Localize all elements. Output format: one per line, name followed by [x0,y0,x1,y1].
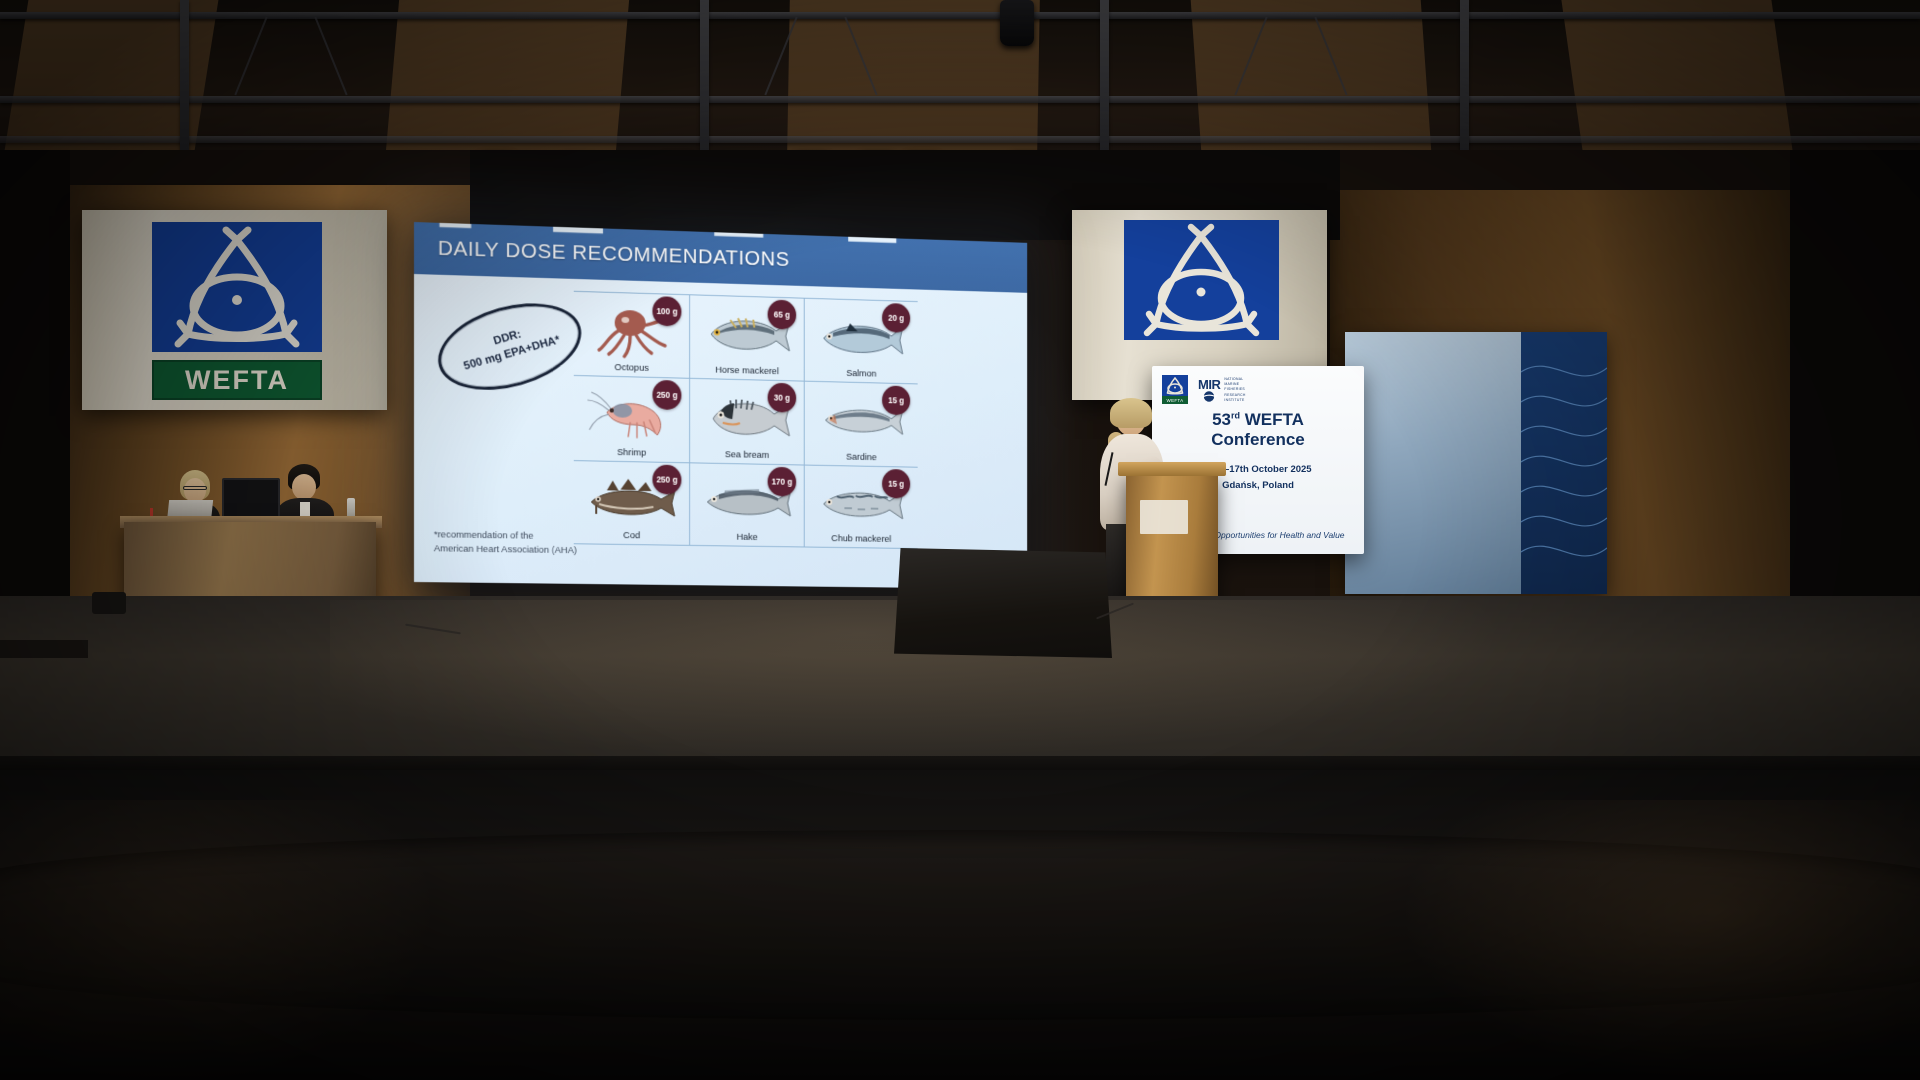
dose-cell-horse-mackerel: 65 gHorse mackerel [690,294,805,381]
truss-post [700,0,709,150]
dose-cell-cod: 250 gCod [574,460,690,546]
mir-sub-line: RESEARCH [1224,393,1245,398]
dose-label: Horse mackerel [715,365,779,377]
truss-beam [0,96,1920,103]
wefta-banner-left: WEFTA [82,210,387,410]
dose-badge: 20 g [882,303,910,333]
stage-light-12 [1000,0,1034,46]
poster-title-line2: Conference [1211,430,1305,449]
dose-label: Hake [737,532,758,543]
dose-cell-sea-bream: 30 gSea bream [690,378,805,464]
daily-dose-grid: 100 gOctopus 65 gHorse mackerel 20 gSalm… [574,291,918,549]
poster-logo-row: WEFTA MIR NATIONAL MARINE FISHERIES RESE… [1162,373,1354,407]
mir-fish-icon [1198,391,1220,402]
mir-sub-line: FISHERIES [1224,387,1245,392]
wefta-triquetra-fish-icon [1124,220,1279,340]
projection-screen: DAILY DOSE RECOMMENDATIONS DDR: 500 mg E… [414,222,1027,589]
dose-label: Shrimp [617,447,646,458]
dose-badge: 170 g [768,466,797,496]
speaker-hair [1110,398,1152,428]
presentation-slide: DAILY DOSE RECOMMENDATIONS DDR: 500 mg E… [414,222,1027,589]
poster-wave-graphic [1521,332,1607,594]
wave-lines-icon [1521,332,1607,594]
dose-cell-octopus: 100 gOctopus [574,291,690,378]
dose-cell-salmon: 20 gSalmon [805,298,918,384]
ambient-glow-left [0,800,430,1080]
footnote-line-1: *recommendation of the [434,530,534,542]
dose-badge: 100 g [652,296,681,326]
auditorium-stage-scene: WEFTA [0,0,1920,1080]
podium-top-surface [1118,462,1226,476]
truss-beam [0,136,1920,143]
wefta-logo-panel-right [1124,220,1279,340]
dose-label: Cod [623,530,640,541]
truss-brace [314,17,347,96]
panel-monitor [222,478,280,520]
footnote-line-2: American Heart Association (AHA) [434,544,577,557]
truss-post [1460,0,1469,150]
dose-label: Sea bream [725,449,769,461]
mir-sub-line: INSTITUTE [1224,398,1245,403]
glasses-icon [183,486,207,490]
dose-badge: 15 g [882,469,910,499]
wefta-logo-panel [152,222,322,352]
dose-label: Salmon [846,368,876,379]
panelist-man-head [292,474,316,500]
dose-label: Chub mackerel [831,533,891,545]
truss-brace [234,17,267,96]
ambient-glow-right [1400,800,1920,1080]
poster-title-number: 53 [1212,410,1231,429]
dose-badge: 250 g [652,464,681,494]
podium-paper [1140,500,1188,534]
truss-post [180,0,189,150]
dose-cell-hake: 170 gHake [690,462,805,547]
dose-label: Octopus [614,362,648,374]
dose-badge: 65 g [768,300,797,330]
ddr-callout-bubble: DDR: 500 mg EPA+DHA* [428,288,592,405]
poster-title-ordinal: rd [1231,410,1240,420]
mir-subtitle: NATIONAL MARINE FISHERIES RESEARCH INSTI… [1224,377,1245,403]
wefta-triquetra-fish-icon [1162,375,1188,396]
dose-cell-chub-mackerel: 15 gChub mackerel [805,464,918,549]
poster-title-org: WEFTA [1240,410,1304,429]
mir-wordmark: MIR [1198,378,1220,391]
truss-post [1100,0,1109,150]
wefta-triquetra-fish-icon [152,222,322,352]
stage-monitor-wedge [894,548,1112,658]
floor-case [92,592,126,614]
conference-backdrop-photo [1345,332,1607,594]
truss-beam [0,12,1920,19]
slide-footnote: *recommendation of the American Heart As… [434,529,577,558]
dose-cell-sardine: 15 gSardine [805,381,918,466]
dose-label: Sardine [846,451,877,462]
dose-cell-shrimp: 250 gShrimp [574,375,690,462]
poster-mir-logo: MIR NATIONAL MARINE FISHERIES RESEARCH I… [1198,377,1246,403]
wefta-banner-left-name: WEFTA [152,360,322,400]
floor-riser-left [0,640,88,658]
poster-title: 53rd WEFTA Conference [1152,410,1364,449]
